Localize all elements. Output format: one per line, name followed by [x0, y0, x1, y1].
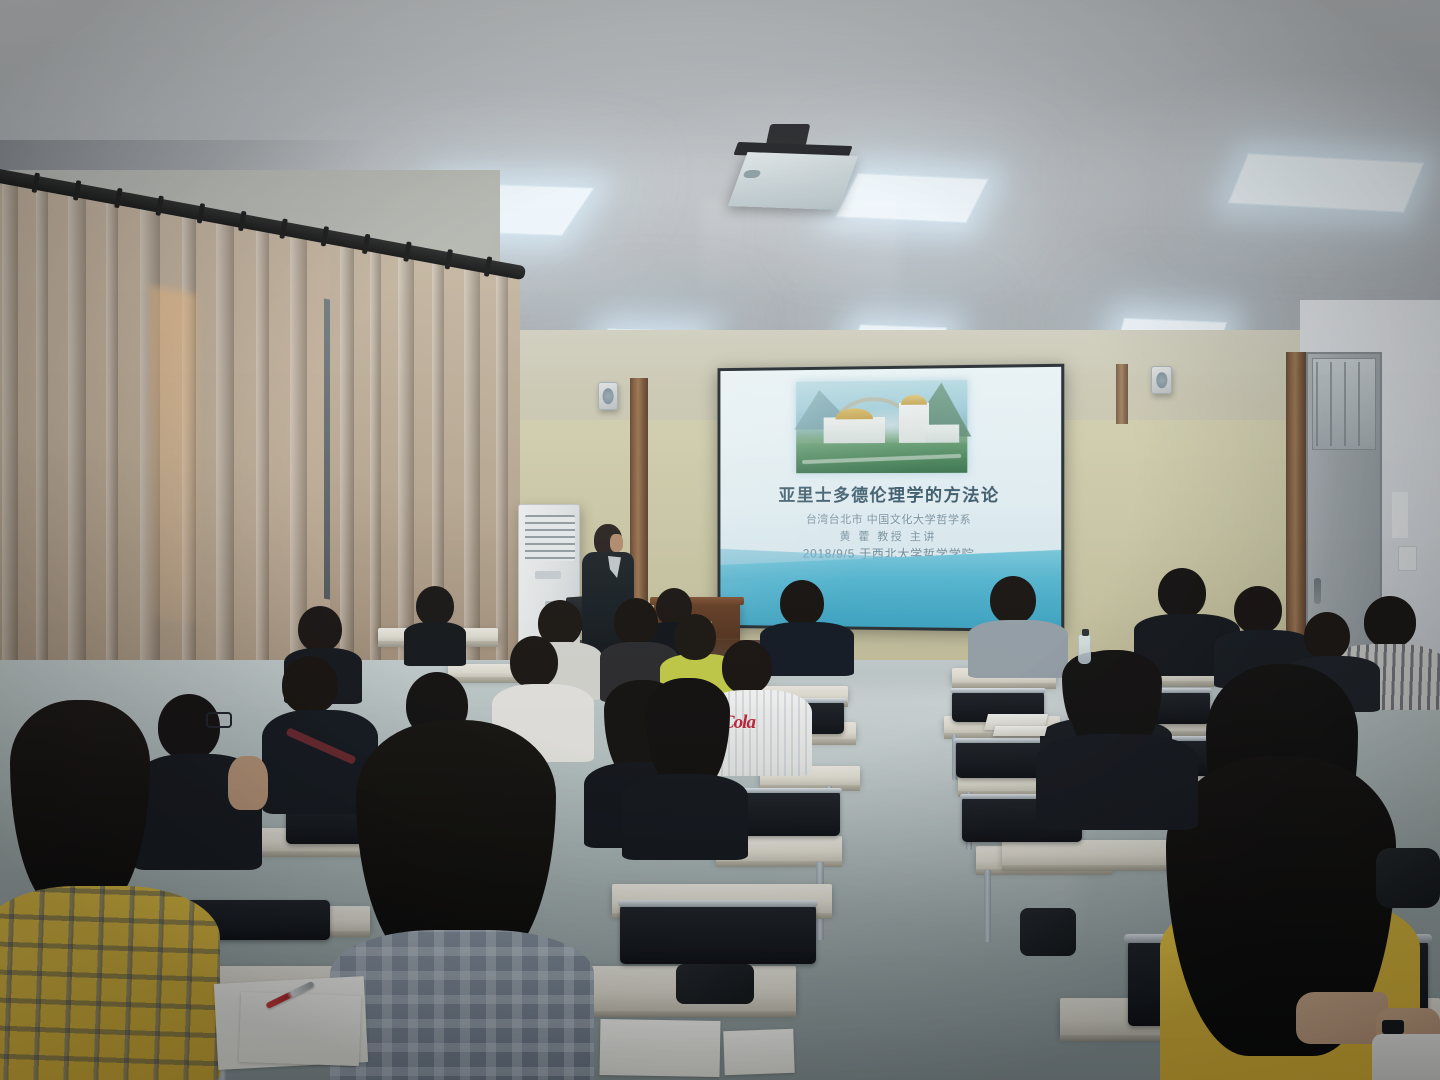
student-head	[510, 636, 558, 688]
curtain-sunlight-highlight	[150, 286, 196, 624]
handout-papers	[723, 1029, 794, 1075]
student-front	[330, 720, 590, 1080]
light-switch-plate[interactable]	[1398, 546, 1417, 571]
backpack	[1020, 908, 1076, 956]
chair[interactable]	[620, 904, 816, 964]
chair-rim	[618, 900, 818, 907]
student-front	[0, 700, 230, 1080]
student-hair	[10, 700, 150, 910]
student	[622, 678, 744, 838]
presenter-face	[610, 534, 623, 552]
student-head	[780, 580, 824, 626]
door-transom-window	[1312, 358, 1376, 450]
water-bottle[interactable]	[1078, 634, 1091, 664]
wood-pillar	[1116, 364, 1128, 424]
projector-icon	[728, 152, 858, 210]
backpack	[1376, 848, 1440, 908]
student	[404, 586, 464, 658]
ac-display	[535, 571, 561, 579]
student-head	[298, 606, 342, 652]
student-head	[1158, 568, 1206, 618]
student-torso	[1036, 734, 1198, 830]
student-torso	[404, 622, 466, 666]
handout-papers	[239, 992, 361, 1066]
lecture-hall-photograph: 亚里士多德伦理学的方法论 台湾台北市 中国文化大学哲学系 黄 藿 教授 主讲 2…	[0, 0, 1440, 1080]
slide-title: 亚里士多德伦理学的方法论	[720, 481, 1061, 506]
plaid-pattern	[0, 886, 220, 1080]
sleeve	[1372, 1034, 1440, 1080]
student-head	[416, 586, 454, 626]
ac-grille	[525, 515, 575, 561]
slide-subtitle-line-1: 台湾台北市 中国文化大学哲学系	[720, 511, 1061, 528]
slide-subtitle-line-2: 黄 藿 教授 主讲	[720, 528, 1061, 545]
ceiling-light-panel	[835, 173, 988, 223]
student-torso	[622, 774, 748, 860]
slide-campus-photo	[796, 380, 967, 473]
ceiling-light-panel	[1228, 153, 1424, 212]
open-notebook	[993, 726, 1047, 736]
desk-leg	[984, 870, 991, 942]
student	[1036, 650, 1194, 810]
student-head	[282, 656, 338, 714]
wall-speaker-icon	[598, 382, 618, 410]
wall-speaker-icon	[1151, 366, 1172, 394]
plaid-pattern	[330, 930, 594, 1080]
chair-rim	[950, 688, 1046, 693]
phone	[1382, 1020, 1404, 1034]
student-head	[614, 598, 658, 646]
student-head	[1304, 612, 1350, 660]
door-handle[interactable]	[1314, 578, 1321, 604]
student-head	[1234, 586, 1282, 634]
student-arm	[228, 756, 268, 810]
wall-notice	[1392, 492, 1408, 538]
student-head	[990, 576, 1036, 624]
backpack	[676, 964, 754, 1004]
handout-papers	[600, 1019, 721, 1077]
